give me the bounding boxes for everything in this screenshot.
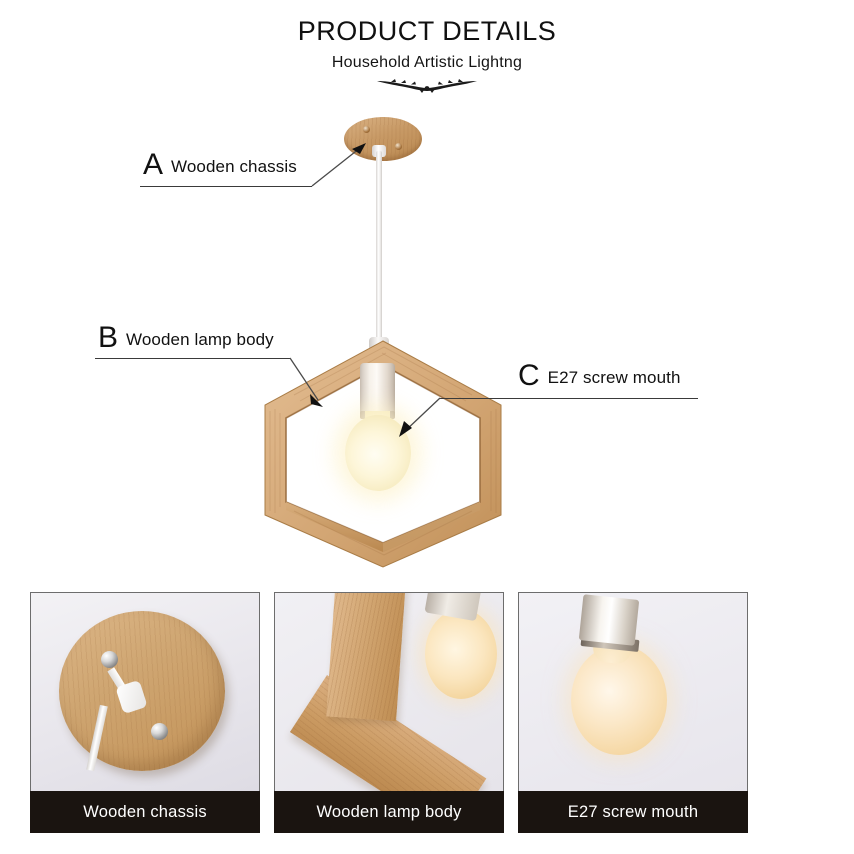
thumbnail-photo-e27-screw-mouth (518, 592, 748, 791)
callout-name-c: E27 screw mouth (540, 368, 681, 387)
chassis-screw-icon (395, 143, 402, 150)
light-bulb-part (345, 415, 411, 491)
chrome-screw-icon (101, 651, 118, 668)
thumbnail-card-e27-screw-mouth[interactable]: E27 screw mouth (518, 592, 748, 833)
thumbnail-photo-wooden-lamp-body (274, 592, 504, 791)
wood-beam-shape (326, 592, 406, 721)
callout-label-a: AWooden chassis (143, 150, 297, 180)
callout-rule-b (95, 358, 290, 359)
callout-label-c: CE27 screw mouth (518, 361, 681, 391)
chassis-screw-icon (363, 126, 370, 133)
thumbnail-photo-wooden-chassis (30, 592, 260, 791)
thumbnail-card-wooden-lamp-body[interactable]: Wooden lamp body (274, 592, 504, 833)
callout-letter-c: C (518, 359, 540, 392)
thumbnail-caption: Wooden chassis (30, 791, 260, 833)
callout-letter-a: A (143, 148, 163, 181)
bulb-shape (425, 609, 497, 699)
hanging-cord (376, 151, 382, 347)
thumbnail-caption: Wooden lamp body (274, 791, 504, 833)
callout-rule-a (140, 186, 312, 187)
socket-shape (579, 594, 640, 646)
header: PRODUCT DETAILS Household Artistic Light… (0, 0, 854, 94)
detail-thumbnail-row: Wooden chassis Wooden lamp body E27 scre… (30, 592, 824, 833)
page-subtitle: Household Artistic Lightng (0, 47, 854, 72)
callout-name-b: Wooden lamp body (118, 330, 274, 349)
callout-letter-b: B (98, 321, 118, 354)
chrome-screw-icon (151, 723, 168, 740)
thumbnail-caption: E27 screw mouth (518, 791, 748, 833)
thumbnail-card-wooden-chassis[interactable]: Wooden chassis (30, 592, 260, 833)
callout-rule-c (440, 398, 698, 399)
callout-name-a: Wooden chassis (163, 157, 297, 176)
callout-label-b: BWooden lamp body (98, 323, 274, 353)
floral-divider-ornament (367, 76, 487, 94)
page-title: PRODUCT DETAILS (0, 0, 854, 47)
